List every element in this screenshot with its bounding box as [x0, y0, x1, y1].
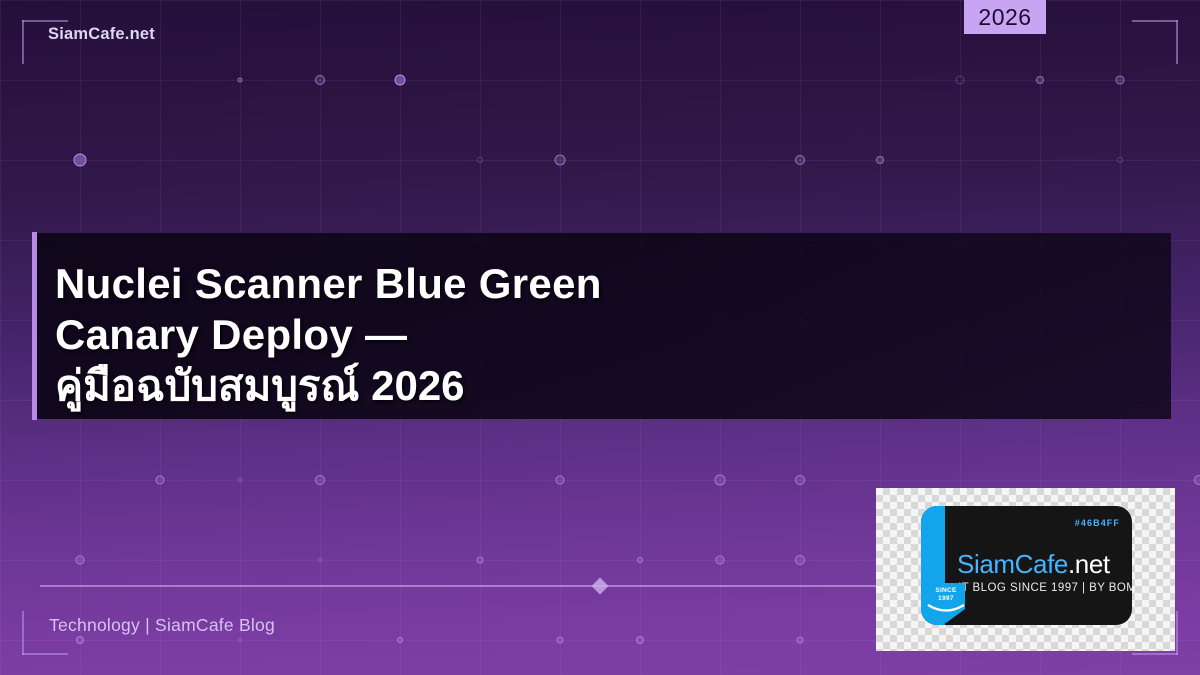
- background-dot: [76, 556, 85, 565]
- year-badge: 2026: [964, 0, 1046, 34]
- background-dot: [956, 76, 965, 85]
- ribbon-text: SINCE 1997: [927, 587, 965, 603]
- background-dot: [156, 476, 165, 485]
- background-dot: [795, 555, 805, 565]
- background-dot: [395, 75, 406, 86]
- logo-tagline: IT BLOG SINCE 1997 | BY BOM: [958, 582, 1132, 594]
- bracket-line-vertical: [1176, 611, 1178, 655]
- background-dot: [797, 637, 804, 644]
- background-dot: [477, 157, 483, 163]
- cover-canvas: SiamCafe.net 2026 Nuclei Scanner Blue Gr…: [0, 0, 1200, 675]
- logo-brand-main: SiamCafe: [957, 549, 1068, 579]
- background-dot: [1194, 475, 1200, 485]
- page-title-line-1: Nuclei Scanner Blue Green: [55, 258, 1115, 309]
- logo-brand-text: SiamCafe.net: [957, 549, 1110, 580]
- corner-bracket-top-right: [1132, 20, 1178, 64]
- logo-card: #46B4FF SiamCafe.net IT BLOG SINCE 1997 …: [876, 488, 1175, 651]
- logo-hex-code-label: #46B4FF: [1075, 518, 1120, 528]
- background-dot: [636, 636, 644, 644]
- site-name-label: SiamCafe.net: [48, 25, 155, 44]
- background-dot: [238, 78, 243, 83]
- footer-category-label: Technology | SiamCafe Blog: [49, 615, 275, 636]
- bracket-line-vertical: [1176, 20, 1178, 64]
- page-title-line-2: Canary Deploy —: [55, 309, 1115, 360]
- background-dot: [1116, 76, 1125, 85]
- logo-brand-tld: .net: [1068, 549, 1110, 579]
- ribbon-line-1: SINCE: [927, 587, 965, 595]
- background-dot: [716, 556, 725, 565]
- logo-badge: #46B4FF SiamCafe.net IT BLOG SINCE 1997 …: [921, 506, 1132, 625]
- background-dot: [238, 478, 243, 483]
- background-dot: [876, 156, 884, 164]
- since-1997-ribbon-icon: SINCE 1997: [927, 583, 965, 623]
- bracket-line-vertical: [22, 20, 24, 64]
- bracket-line-horizontal: [22, 20, 68, 22]
- background-dot: [795, 475, 805, 485]
- background-dot: [318, 558, 323, 563]
- background-dot: [1117, 157, 1123, 163]
- background-dot: [315, 75, 325, 85]
- background-dot: [715, 475, 726, 486]
- background-dot: [477, 557, 484, 564]
- title-accent-bar: [32, 232, 37, 420]
- background-dot: [556, 476, 565, 485]
- background-dot: [76, 636, 84, 644]
- background-dot: [397, 637, 403, 643]
- background-dot: [637, 557, 643, 563]
- background-dot: [1036, 76, 1044, 84]
- page-title: Nuclei Scanner Blue Green Canary Deploy …: [55, 258, 1115, 411]
- bracket-line-horizontal: [1132, 20, 1178, 22]
- background-dot: [238, 638, 243, 643]
- bracket-line-horizontal: [22, 653, 68, 655]
- diamond-icon: [592, 577, 609, 594]
- background-dot: [557, 637, 564, 644]
- background-dot: [315, 475, 325, 485]
- background-dot: [795, 155, 805, 165]
- background-dot: [555, 155, 566, 166]
- background-dot: [74, 154, 87, 167]
- bracket-line-horizontal: [1132, 653, 1178, 655]
- page-title-line-3: คู่มือฉบับสมบูรณ์ 2026: [55, 360, 1115, 411]
- bracket-line-vertical: [22, 611, 24, 655]
- ribbon-line-2: 1997: [927, 595, 965, 603]
